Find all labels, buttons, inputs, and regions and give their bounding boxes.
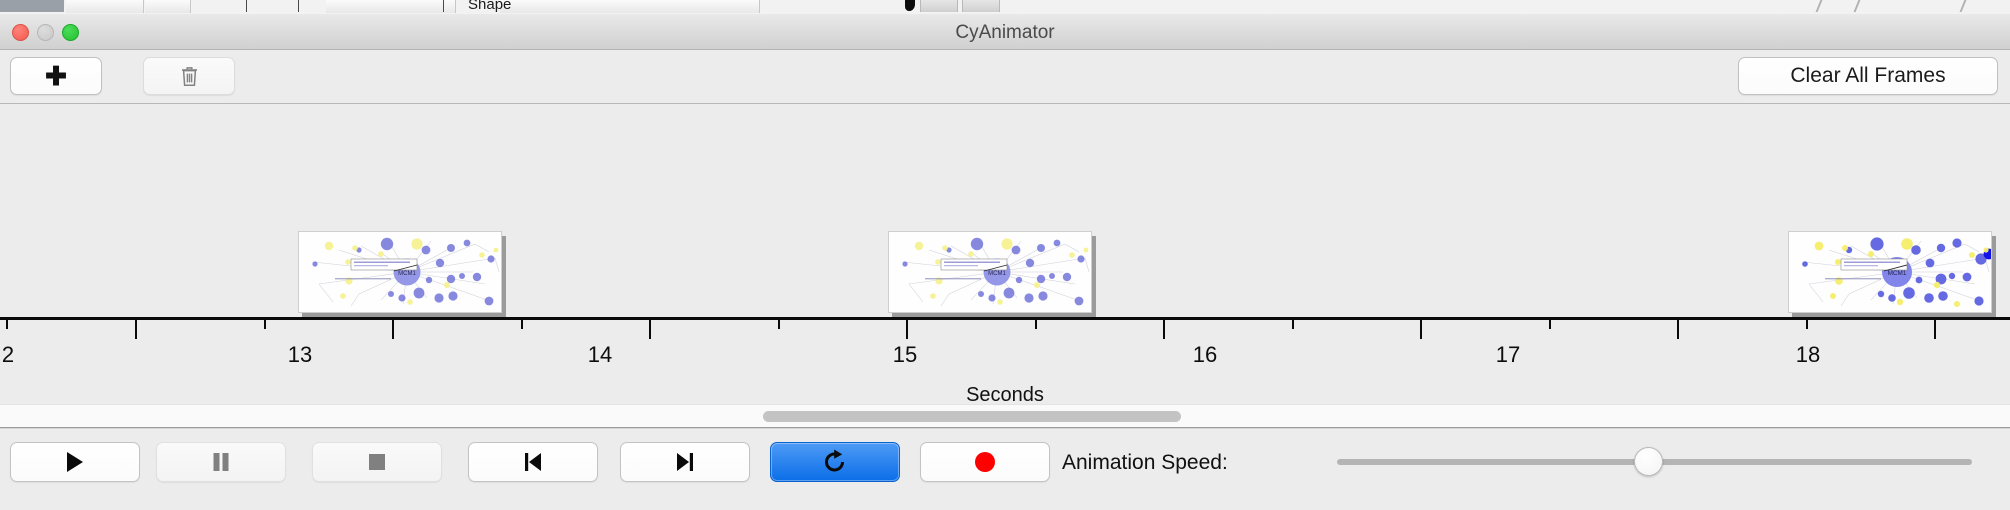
animation-speed-label: Animation Speed: [1062, 451, 1228, 475]
ruler-tick-minor [264, 320, 266, 329]
clear-all-frames-label: Clear All Frames [1790, 64, 1945, 88]
background-cell [326, 0, 456, 13]
ruler-tick-minor [1292, 320, 1294, 329]
background-cell [145, 0, 191, 13]
network-thumbnail-image: MCM1 [1788, 231, 1992, 313]
ruler-tick-minor [6, 320, 8, 329]
background-cursor-glyph [905, 0, 915, 11]
frame-toolbar: ✚ Clear All Frames [0, 50, 2010, 104]
skip-to-end-button[interactable] [620, 442, 750, 482]
background-divider [1816, 0, 1833, 12]
ruler-label: 16 [1193, 342, 1217, 368]
clear-all-frames-button[interactable]: Clear All Frames [1738, 57, 1998, 95]
background-button [962, 0, 1000, 12]
frames-area[interactable]: MCM1 [0, 104, 2010, 317]
svg-text:MCM1: MCM1 [398, 271, 416, 277]
ruler-tick-major [1934, 320, 1936, 339]
background-tick [246, 0, 247, 12]
play-button[interactable] [10, 442, 140, 482]
cyanimator-window: CyAnimator ✚ Clear All Frames [0, 14, 2010, 510]
pause-button[interactable] [156, 442, 286, 482]
ruler-tick-major [1677, 320, 1679, 339]
ruler-tick-major [392, 320, 394, 339]
ruler-tick-minor [1806, 320, 1808, 329]
loop-button[interactable] [770, 442, 900, 482]
network-graph: MCM1 [299, 232, 502, 313]
ruler-label: 2 [2, 342, 14, 368]
ruler-tick-minor [1549, 320, 1551, 329]
frame-thumbnail[interactable]: MCM1 [298, 231, 506, 317]
frame-thumbnail[interactable]: MCM1 [1788, 231, 1996, 317]
network-graph: MCM1 [1789, 232, 1992, 313]
background-shape-label: Shape [468, 0, 511, 13]
stop-button[interactable] [312, 442, 442, 482]
add-frame-button[interactable]: ✚ [10, 57, 102, 95]
timeline-horizontal-scrollbar[interactable] [0, 404, 2010, 428]
ruler-axis-line [0, 317, 2010, 320]
background-button [920, 0, 958, 12]
stop-icon [367, 452, 387, 472]
background-tick [298, 0, 299, 12]
ruler-label: 13 [288, 342, 312, 368]
timeline-panel[interactable]: MCM1 [0, 104, 2010, 404]
animation-speed-slider[interactable] [1337, 459, 1972, 465]
ruler-label: 18 [1796, 342, 1820, 368]
ruler-tick-minor [521, 320, 523, 329]
loop-icon [822, 449, 848, 475]
plus-icon: ✚ [45, 63, 67, 89]
record-icon [973, 450, 997, 474]
background-cell [66, 0, 144, 13]
frame-thumbnail[interactable]: MCM1 [888, 231, 1096, 317]
scrollbar-thumb[interactable] [763, 411, 1181, 422]
skip-to-start-button[interactable] [468, 442, 598, 482]
trash-icon [181, 66, 198, 87]
ruler-label: 15 [893, 342, 917, 368]
ruler-tick-major [906, 320, 908, 339]
record-button[interactable] [920, 442, 1050, 482]
background-window-strip: Shape [0, 0, 2010, 14]
background-divider [1960, 0, 1977, 12]
ruler-label: 14 [588, 342, 612, 368]
timeline-axis-title: Seconds [0, 384, 2010, 404]
playback-control-bar: Animation Speed: [0, 428, 2010, 495]
network-thumbnail-image: MCM1 [298, 231, 502, 313]
pause-icon [211, 451, 231, 473]
window-title: CyAnimator [0, 22, 2010, 44]
ruler-tick-major [135, 320, 137, 339]
ruler-tick-major [649, 320, 651, 339]
slider-handle[interactable] [1634, 447, 1663, 476]
play-icon [64, 450, 86, 474]
ruler-tick-major [1420, 320, 1422, 339]
ruler-label: 17 [1496, 342, 1520, 368]
ruler-tick-minor [1035, 320, 1037, 329]
ruler-tick-major [1163, 320, 1165, 339]
svg-text:MCM1: MCM1 [988, 271, 1006, 277]
svg-text:MCM1: MCM1 [1888, 270, 1907, 277]
background-divider [1854, 0, 1871, 12]
background-dark-block [0, 0, 64, 12]
network-graph: MCM1 [889, 232, 1092, 313]
background-tick [443, 0, 444, 12]
delete-frame-button[interactable] [143, 57, 235, 95]
timeline-ruler[interactable]: 2 13 14 15 16 17 18 [0, 317, 2010, 383]
background-cell [500, 0, 760, 13]
window-titlebar[interactable]: CyAnimator [0, 14, 2010, 50]
ruler-tick-minor [778, 320, 780, 329]
skip-forward-icon [674, 451, 696, 473]
network-thumbnail-image: MCM1 [888, 231, 1092, 313]
skip-back-icon [522, 451, 544, 473]
